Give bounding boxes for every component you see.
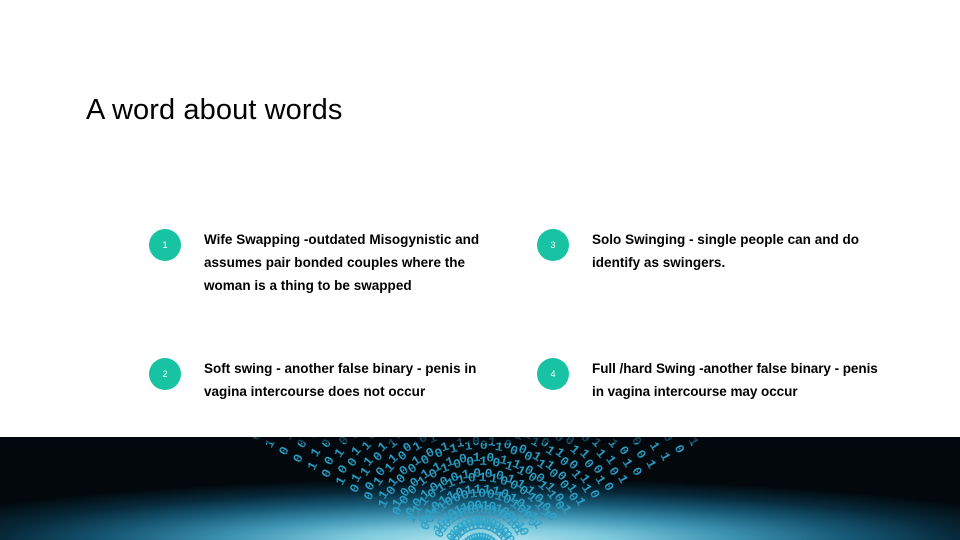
list-item-label: Solo Swinging - single people can and do… (592, 228, 877, 274)
list-item: 4 Full /hard Swing -another false binary… (537, 357, 882, 403)
binary-code-graphic: 010010100101001010010100101001 101001101… (0, 437, 960, 540)
numbered-items-list: 1 Wife Swapping -outdated Misogynistic a… (0, 0, 960, 437)
item-number-badge: 2 (149, 358, 181, 390)
list-item: 1 Wife Swapping -outdated Misogynistic a… (149, 228, 489, 298)
list-item-label: Full /hard Swing -another false binary -… (592, 357, 882, 403)
list-item-label: Soft swing - another false binary - peni… (204, 357, 489, 403)
binary-code-image: 010010100101001010010100101001 101001101… (0, 437, 960, 540)
list-item: 2 Soft swing - another false binary - pe… (149, 357, 489, 403)
list-item-label: Wife Swapping -outdated Misogynistic and… (204, 228, 489, 298)
list-item: 3 Solo Swinging - single people can and … (537, 228, 877, 274)
slide: A word about words 1 Wife Swapping -outd… (0, 0, 960, 540)
item-number-badge: 3 (537, 229, 569, 261)
item-number-badge: 1 (149, 229, 181, 261)
item-number-badge: 4 (537, 358, 569, 390)
